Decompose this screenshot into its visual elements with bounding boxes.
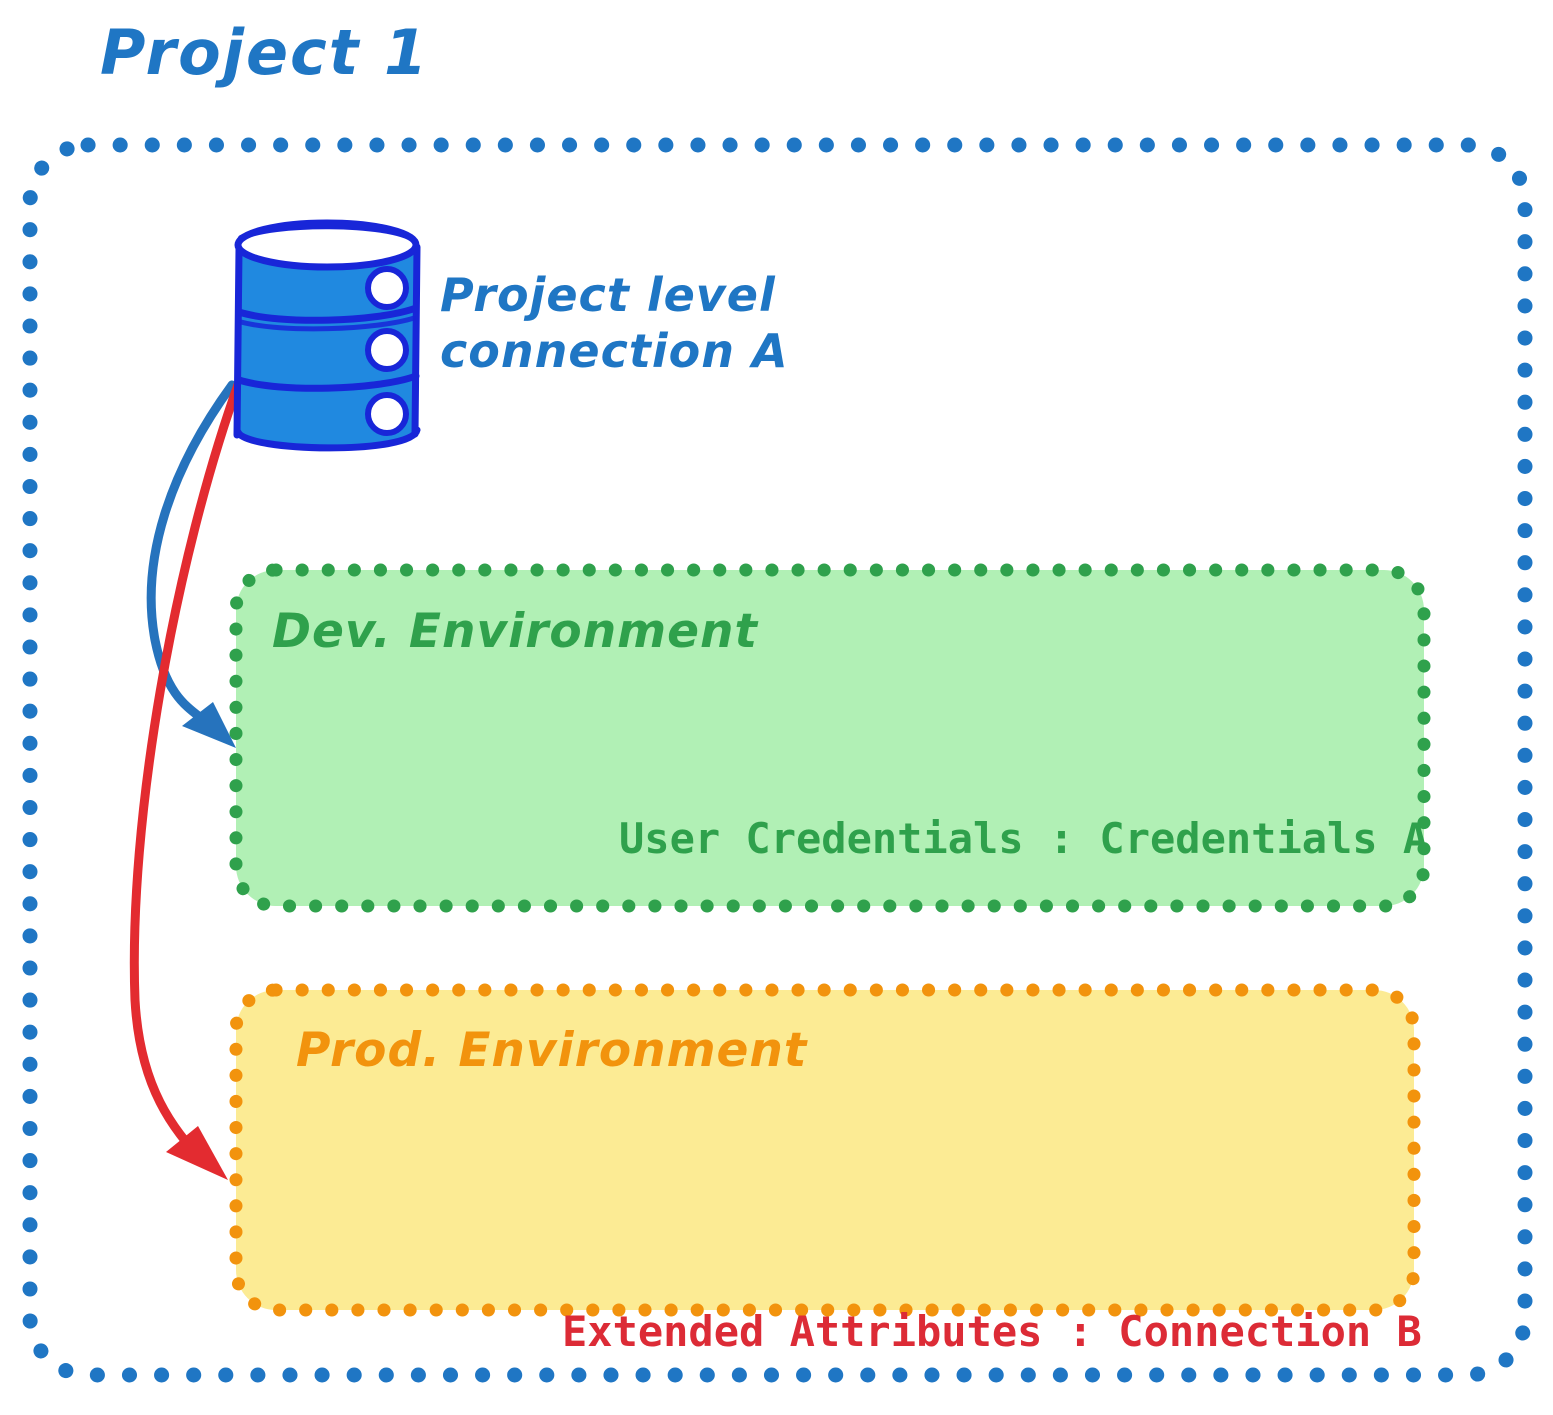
prod-line-1: Extended Attributes : Connection B xyxy=(562,1305,1447,1360)
diagram-canvas: Project 1 Project levelconnection A Dev.… xyxy=(0,0,1553,1415)
prod-environment-title: Prod. Environment xyxy=(296,1027,807,1074)
arrow-to-prod xyxy=(134,382,239,1180)
project-title: Project 1 xyxy=(100,22,429,84)
database-label-line1: Project level xyxy=(440,268,776,322)
dev-credentials-line: User Credentials : Credentials A xyxy=(619,818,1428,860)
prod-attribute-lines: Extended Attributes : Connection B Ext.A… xyxy=(562,1196,1447,1415)
database-label-line2: connection A xyxy=(440,324,789,378)
dev-environment-title: Dev. Environment xyxy=(272,608,758,655)
database-cylinder-icon[interactable] xyxy=(237,223,417,448)
database-label: Project levelconnection A xyxy=(440,267,789,379)
